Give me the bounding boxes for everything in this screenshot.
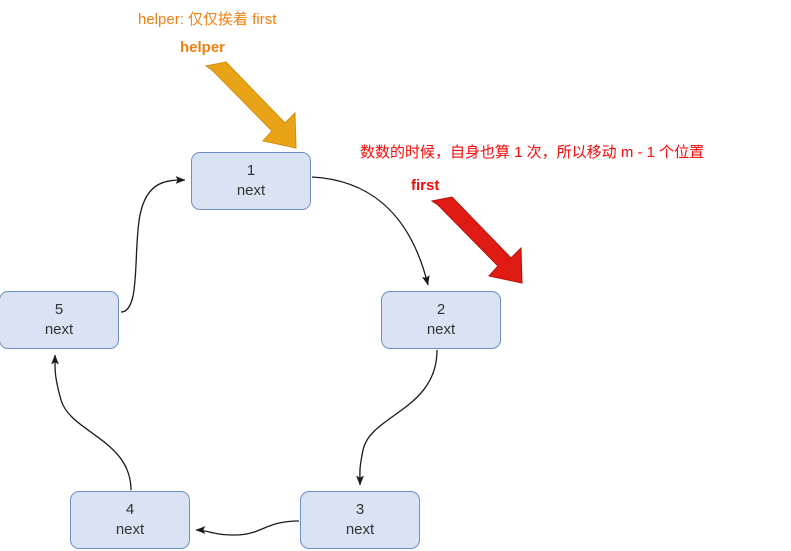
helper-pointer-label: helper <box>180 39 225 56</box>
helper-note-text: helper: 仅仅挨着 first <box>138 8 276 29</box>
node-value: 4 <box>126 500 134 520</box>
helper-block-arrow-icon <box>206 62 296 148</box>
first-block-arrow-icon <box>432 197 522 283</box>
node-value: 1 <box>247 161 255 181</box>
list-node-1[interactable]: 1 next <box>191 152 311 210</box>
node-next-label: next <box>346 520 374 540</box>
list-node-3[interactable]: 3 next <box>300 491 420 549</box>
node-next-label: next <box>237 181 265 201</box>
pointer-arrow-layer <box>0 0 791 551</box>
node-value: 3 <box>356 500 364 520</box>
list-node-2[interactable]: 2 next <box>381 291 501 349</box>
node-value: 5 <box>55 300 63 320</box>
first-note-text: 数数的时候，自身也算 1 次，所以移动 m - 1 个位置 <box>360 141 704 162</box>
list-node-5[interactable]: 5 next <box>0 291 119 349</box>
node-next-label: next <box>116 520 144 540</box>
diagram-canvas: 1 next 2 next 3 next 4 next 5 next helpe… <box>0 0 791 551</box>
node-next-label: next <box>45 320 73 340</box>
list-node-4[interactable]: 4 next <box>70 491 190 549</box>
node-value: 2 <box>437 300 445 320</box>
first-pointer-label: first <box>411 177 439 194</box>
node-next-label: next <box>427 320 455 340</box>
